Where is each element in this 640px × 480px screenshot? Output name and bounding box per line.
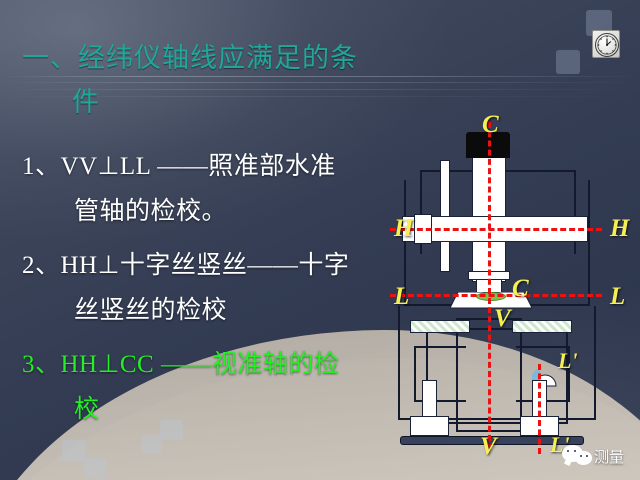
- label-h-left: H: [394, 216, 413, 241]
- condition-item-3-cont: 校: [22, 387, 404, 432]
- label-v-bottom: V: [480, 434, 497, 459]
- page-title: 一、经纬仪轴线应满足的条 件: [22, 36, 392, 124]
- label-l-prime-right: L': [558, 350, 578, 372]
- axis-hh-horizontal: [390, 228, 602, 231]
- level-vial-right: [512, 320, 572, 333]
- watermark-text: 测量: [594, 446, 624, 467]
- wechat-bubble-small: [575, 451, 592, 465]
- decor-square-bl-3: [62, 440, 86, 462]
- page-title-line2: 件: [22, 80, 392, 124]
- slide-canvas: 一、经纬仪轴线应满足的条 件 1、VV⊥LL ——照准部水准 管轴的检校。 2、…: [0, 0, 640, 480]
- axis-cc-vertical: [488, 122, 491, 294]
- condition-item-2-main: 2、HH⊥十字丝竖丝——十字: [22, 252, 349, 279]
- label-v-top: V: [494, 306, 511, 331]
- label-c-mid: C: [512, 276, 529, 301]
- axis-ll-horizontal: [390, 294, 602, 297]
- leveling-screw-left-foot: [410, 416, 449, 436]
- label-c-top: C: [482, 112, 499, 137]
- condition-item-1-cont: 管轴的检校。: [22, 189, 404, 234]
- decor-square-bl-4: [84, 458, 106, 478]
- theodolite-diagram: C H H L L C V V L' L': [384, 118, 640, 448]
- label-l-left: L: [394, 284, 409, 309]
- decor-square-bl-2: [141, 435, 162, 453]
- condition-item-3-main: 3、HH⊥CC ——视准轴的检: [22, 351, 340, 378]
- condition-item-1-main: 1、VV⊥LL ——照准部水准: [22, 153, 336, 180]
- condition-item-1: 1、VV⊥LL ——照准部水准 管轴的检校。: [22, 144, 404, 234]
- decor-square-tr-2: [556, 50, 580, 74]
- clock-hands-icon: [596, 34, 618, 56]
- clock-face: [595, 33, 619, 57]
- level-vial-left: [410, 320, 470, 333]
- condition-item-2-cont: 丝竖丝的检校: [22, 288, 404, 333]
- axis-l-prime-vertical: [538, 364, 541, 454]
- condition-item-2: 2、HH⊥十字丝竖丝——十字 丝竖丝的检校: [22, 243, 404, 333]
- label-h-right: H: [610, 216, 629, 241]
- wechat-logo: [562, 443, 596, 467]
- axis-vv-vertical: [488, 298, 491, 450]
- clock-icon: [592, 30, 620, 58]
- wechat-bubble-tail: [564, 458, 572, 466]
- page-title-line1: 一、经纬仪轴线应满足的条: [22, 43, 358, 73]
- label-l-right: L: [610, 284, 625, 309]
- condition-item-3: 3、HH⊥CC ——视准轴的检 校: [22, 342, 404, 432]
